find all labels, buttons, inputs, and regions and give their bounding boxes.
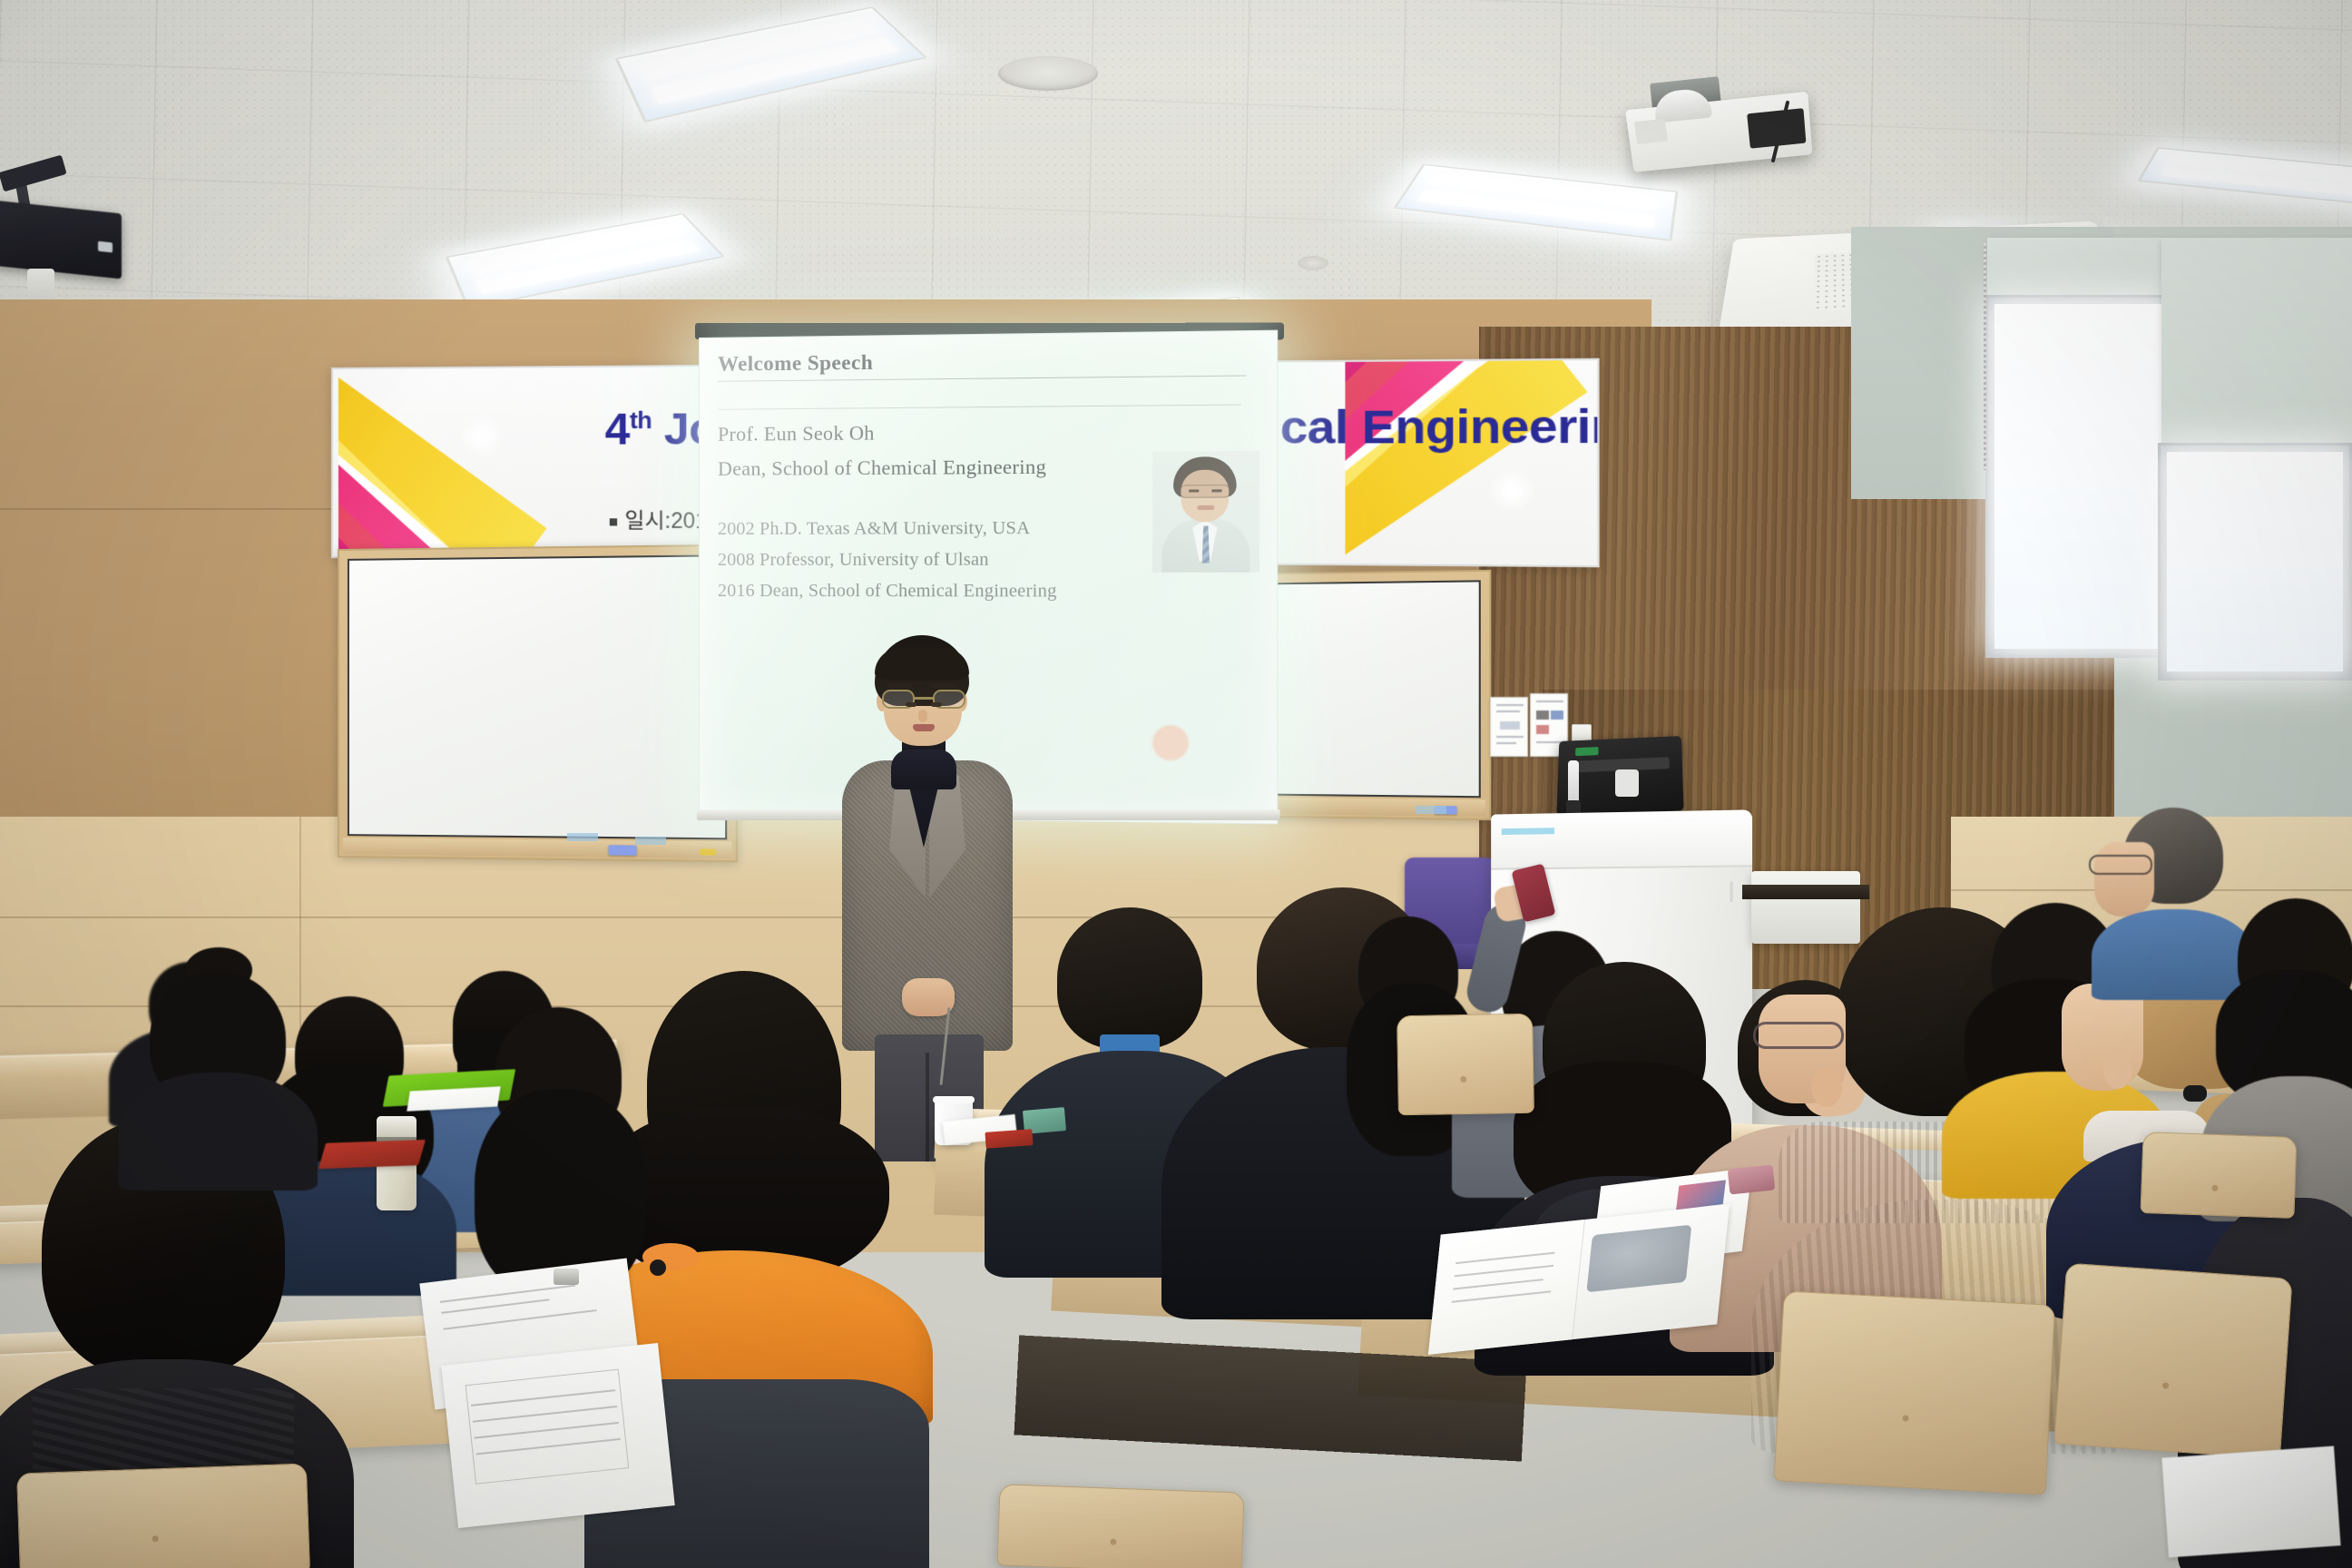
- red-notebook[interactable]: [318, 1140, 426, 1169]
- lectern-top-surface[interactable]: [1491, 809, 1752, 869]
- chair-mid-right[interactable]: [1396, 1014, 1534, 1116]
- pink-object-right-desk[interactable]: [1728, 1164, 1776, 1194]
- whiteboard-marker-left[interactable]: [700, 848, 717, 855]
- paper-right-back-desk[interactable]: [2161, 1446, 2340, 1558]
- lectern-document-camera[interactable]: [1615, 769, 1639, 797]
- screen-tape-right2: [1416, 806, 1446, 814]
- banner-title-ordinal: th: [630, 406, 652, 434]
- wall-notice-1: [1490, 697, 1528, 757]
- back-man-glasses-icon: [2089, 855, 2152, 875]
- blonde-ear: [2103, 1051, 2132, 1089]
- grey-turtleneck-ear: [1811, 1067, 1842, 1107]
- slide-decoration-dot: [1152, 725, 1189, 760]
- blind-chain-1[interactable]: [1984, 243, 1986, 470]
- ceiling-smoke-detector: [998, 56, 1098, 91]
- ponytail-tie: [2183, 1085, 2207, 1102]
- slide-cv-line-3: 2016 Dean, School of Chemical Engineerin…: [718, 581, 1263, 603]
- banner-title-number: 4: [605, 406, 630, 455]
- chair-right-2[interactable]: [2053, 1263, 2292, 1460]
- window-blind-2: [2161, 238, 2352, 448]
- side-table: [1742, 885, 1869, 899]
- slide-portrait-photo: [1152, 451, 1259, 573]
- presenter-glasses-icon: [882, 690, 965, 710]
- audience-person-behind-orange: [454, 1007, 662, 1307]
- banner-artwork-left: [338, 367, 550, 557]
- lecture-hall-photo: 4th Joint Symposium on Chemical Engineer…: [0, 0, 2352, 1568]
- handout-front-left-2[interactable]: [441, 1343, 675, 1528]
- binder-clip[interactable]: [554, 1269, 579, 1285]
- chair-right-1[interactable]: [1774, 1290, 2056, 1494]
- wall-speaker-left: [0, 201, 122, 279]
- window-2[interactable]: [2158, 443, 2352, 681]
- whiteboard-left[interactable]: [338, 544, 738, 863]
- chair-back-right[interactable]: [2140, 1132, 2297, 1219]
- window-1[interactable]: [1985, 295, 2171, 658]
- bullet-icon: [610, 518, 617, 525]
- red-card-center[interactable]: [985, 1129, 1033, 1149]
- ceiling-sprinkler: [1298, 256, 1328, 270]
- slide-heading: Welcome Speech: [718, 346, 1263, 376]
- chair-front-left[interactable]: [16, 1463, 310, 1568]
- screen-tape-left: [567, 833, 598, 841]
- chair-front-center[interactable]: [997, 1484, 1245, 1568]
- window-blind-1: [1987, 238, 2169, 301]
- grey-turtleneck-glasses-icon: [1753, 1022, 1844, 1049]
- audience-person-front-left-bun: [127, 955, 309, 1154]
- slide-speaker-name: Prof. Eun Seok Oh: [718, 418, 1263, 446]
- whiteboard-eraser-left[interactable]: [609, 845, 637, 856]
- lectern-label-strip: [1502, 828, 1554, 835]
- screen-tape-right: [635, 837, 666, 845]
- banner-artwork-right: [1345, 360, 1591, 565]
